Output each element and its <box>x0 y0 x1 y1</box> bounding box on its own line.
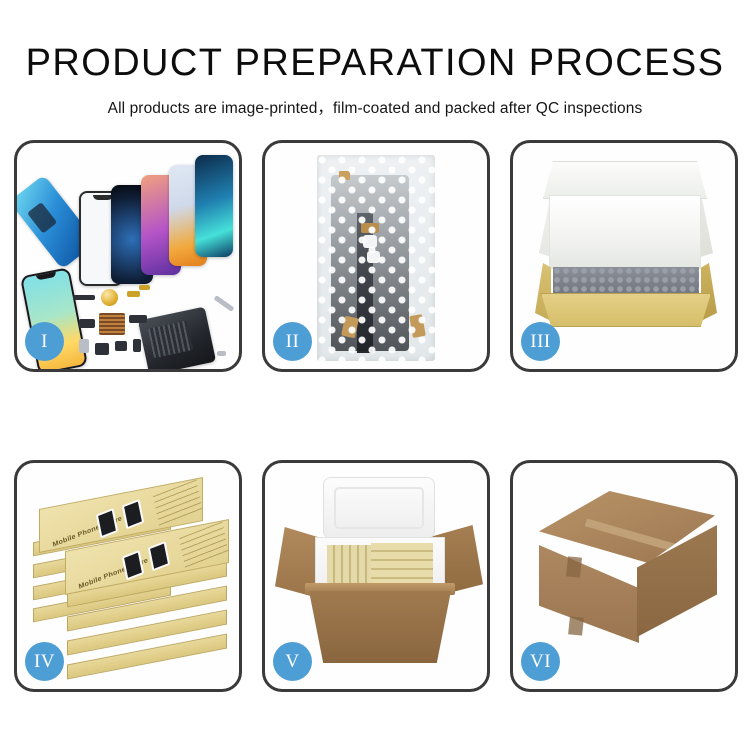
box-lid-open <box>543 161 707 199</box>
spare-part-chip <box>73 295 95 300</box>
process-step-5: V <box>262 460 490 692</box>
phone-motherboard-image <box>138 307 216 369</box>
spare-part-chip <box>139 285 150 290</box>
process-step-3: III <box>510 140 738 372</box>
spare-part-chip <box>95 343 109 355</box>
box-print-feature-list <box>153 479 203 528</box>
bubble-texture <box>317 155 435 361</box>
spare-part-grid <box>99 313 125 335</box>
step-badge-1: I <box>25 322 64 361</box>
page-subtitle: All products are image-printed，film-coat… <box>0 82 750 118</box>
spare-part-chip <box>79 319 95 328</box>
process-step-grid: I II <box>14 140 736 680</box>
box-front-kraft <box>541 293 711 327</box>
vibration-motor-part <box>101 289 118 306</box>
spare-part-chip <box>129 315 147 323</box>
carton-body <box>309 591 451 663</box>
process-step-4: Mobile Phone Spare Parts Mobile Phone Sp… <box>14 460 242 692</box>
screw-part <box>217 351 226 356</box>
styrofoam-lid <box>323 477 435 539</box>
spare-part-chip <box>127 291 140 297</box>
page-title: PRODUCT PREPARATION PROCESS <box>0 0 750 82</box>
box-print-screen-image <box>96 508 118 538</box>
tweezers-tool <box>214 295 235 312</box>
product-preparation-infographic: PRODUCT PREPARATION PROCESS All products… <box>0 0 750 750</box>
spare-part-chip <box>133 339 141 352</box>
packed-boxes-row <box>371 543 433 587</box>
box-print-screen-image <box>122 550 144 580</box>
step-badge-5: V <box>273 642 312 681</box>
process-step-6: VI <box>510 460 738 692</box>
foam-sheet <box>549 195 701 269</box>
step-badge-4: IV <box>25 642 64 681</box>
carton-seam <box>566 556 582 577</box>
box-print-feature-list <box>179 521 229 570</box>
carton-left-face <box>539 545 639 643</box>
box-print-screen-image <box>148 541 170 571</box>
bubble-wrap-bag <box>317 155 435 361</box>
spare-part-chip <box>79 339 89 353</box>
step-badge-6: VI <box>521 642 560 681</box>
phone-screen-teal-image <box>195 155 233 257</box>
step-badge-2: II <box>273 322 312 361</box>
carton-seam <box>568 616 584 635</box>
process-step-2: II <box>262 140 490 372</box>
header: PRODUCT PREPARATION PROCESS All products… <box>0 0 750 118</box>
step-badge-3: III <box>521 322 560 361</box>
spare-part-chip <box>115 341 127 351</box>
box-print-screen-image <box>122 499 144 529</box>
process-step-1: I <box>14 140 242 372</box>
